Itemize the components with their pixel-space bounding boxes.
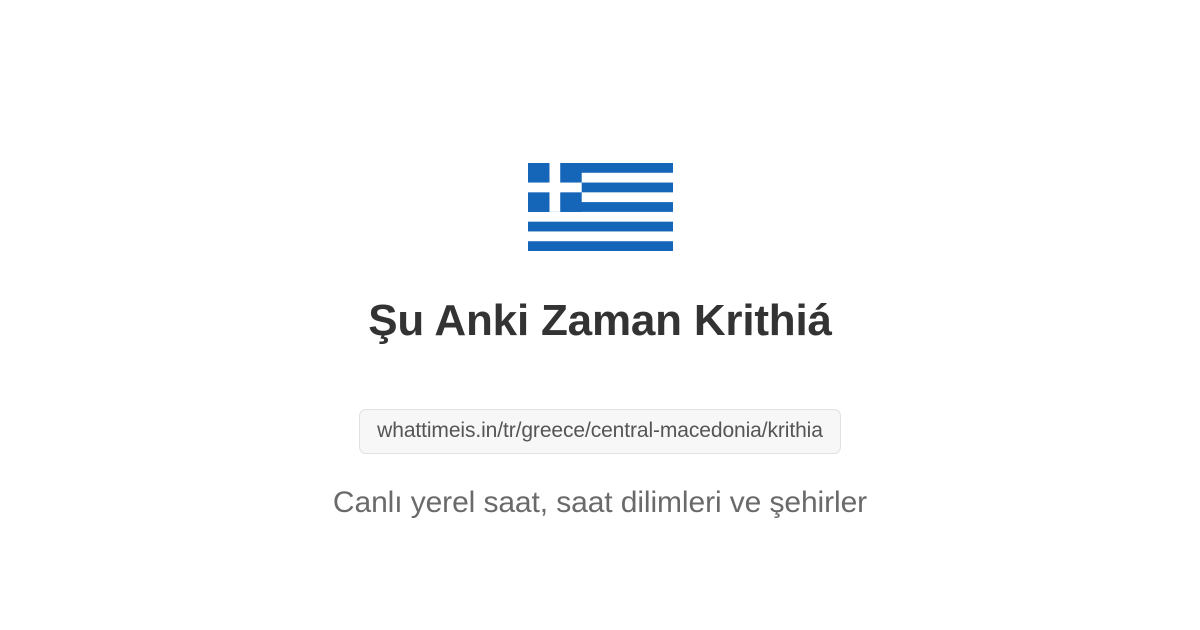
url-display[interactable]: whattimeis.in/tr/greece/central-macedoni… (359, 409, 841, 454)
page-title: Şu Anki Zaman Krithiá (368, 297, 832, 345)
greece-flag-icon (528, 163, 673, 251)
page-subtitle: Canlı yerel saat, saat dilimleri ve şehi… (333, 486, 867, 520)
share-card-page: Şu Anki Zaman Krithiá whattimeis.in/tr/g… (0, 0, 1200, 630)
greece-flag-svg (528, 163, 673, 251)
